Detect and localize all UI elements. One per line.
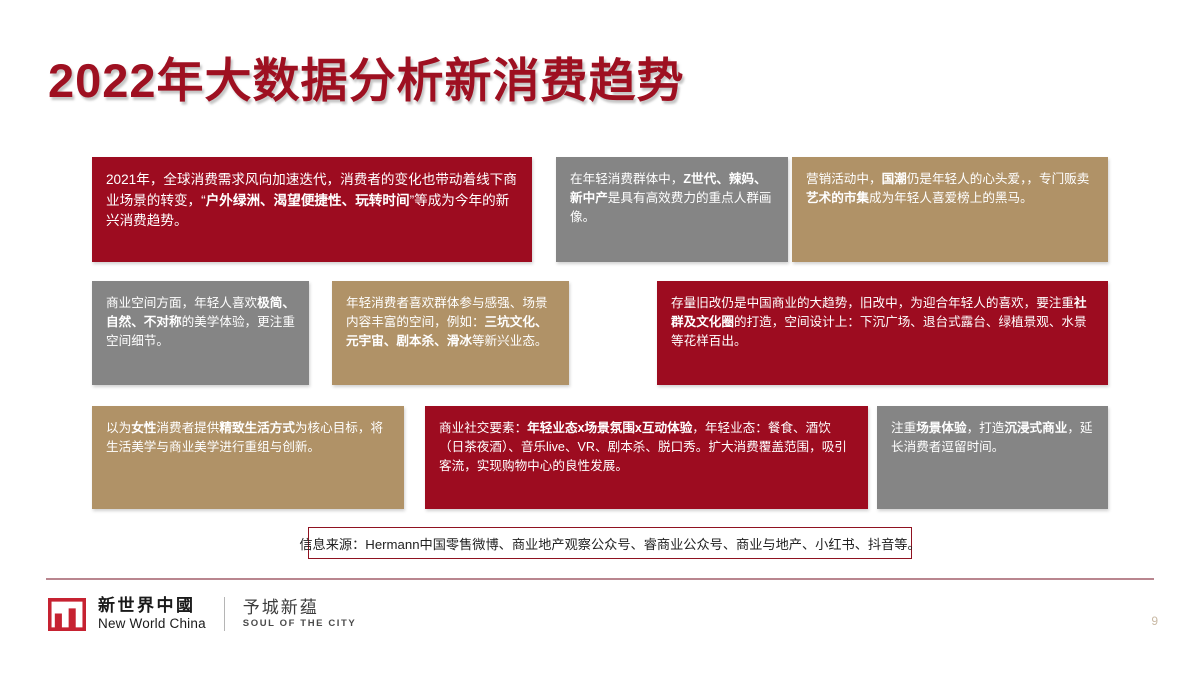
source-note: 信息来源：Hermann中国零售微博、商业地产观察公众号、睿商业公众号、商业与地… — [308, 527, 912, 559]
card-female-lifestyle[interactable]: 以为女性消费者提供精致生活方式为核心目标，将生活美学与商业美学进行重组与创新。 — [92, 406, 404, 509]
card-text: 存量旧改仍是中国商业的大趋势，旧改中，为迎合年轻人的喜欢，要注重社群及文化圈的打… — [671, 294, 1094, 351]
card-renovation[interactable]: 存量旧改仍是中国商业的大趋势，旧改中，为迎合年轻人的喜欢，要注重社群及文化圈的打… — [657, 281, 1108, 385]
footer-divider — [46, 578, 1154, 580]
sub-brand-cn: 予城新蕴 — [243, 598, 357, 618]
sub-brand-en: SOUL OF THE CITY — [243, 618, 357, 630]
page-number: 9 — [1151, 614, 1158, 628]
brand-separator — [224, 597, 225, 631]
card-text: 年轻消费者喜欢群体参与感强、场景内容丰富的空间，例如：三坑文化、元宇宙、剧本杀、… — [346, 294, 555, 351]
card-new-formats[interactable]: 年轻消费者喜欢群体参与感强、场景内容丰富的空间，例如：三坑文化、元宇宙、剧本杀、… — [332, 281, 569, 385]
sub-brand-block: 予城新蕴 SOUL OF THE CITY — [243, 598, 357, 630]
card-young-groups[interactable]: 在年轻消费群体中，Z世代、辣妈、新中产是具有高效费力的重点人群画像。 — [556, 157, 788, 262]
new-world-china-logo-icon — [48, 598, 86, 631]
card-text: 营销活动中，国潮仍是年轻人的心头爱，，专门贩卖艺术的市集成为年轻人喜爱榜上的黑马… — [806, 170, 1094, 208]
card-text: 商业空间方面，年轻人喜欢极简、自然、不对称的美学体验，更注重空间细节。 — [106, 294, 295, 351]
card-text: 注重场景体验，打造沉浸式商业，延长消费者逗留时间。 — [891, 419, 1094, 457]
card-text: 2021年，全球消费需求风向加速迭代，消费者的变化也带动着线下商业场景的转变，“… — [106, 170, 518, 232]
card-immersive[interactable]: 注重场景体验，打造沉浸式商业，延长消费者逗留时间。 — [877, 406, 1108, 509]
brand-name-en: New World China — [98, 616, 206, 632]
card-text: 在年轻消费群体中，Z世代、辣妈、新中产是具有高效费力的重点人群画像。 — [570, 170, 774, 227]
page-title: 2022年大数据分析新消费趋势 — [48, 42, 685, 111]
card-trend-2021[interactable]: 2021年，全球消费需求风向加速迭代，消费者的变化也带动着线下商业场景的转变，“… — [92, 157, 532, 262]
card-text: 商业社交要素：年轻业态x场景氛围x互动体验，年轻业态：餐食、酒饮（日茶夜酒）、音… — [439, 419, 854, 476]
brand-name-cn: 新世界中國 — [98, 596, 206, 616]
card-commercial-space[interactable]: 商业空间方面，年轻人喜欢极简、自然、不对称的美学体验，更注重空间细节。 — [92, 281, 309, 385]
source-text: 信息来源：Hermann中国零售微博、商业地产观察公众号、睿商业公众号、商业与地… — [299, 534, 920, 553]
card-text: 以为女性消费者提供精致生活方式为核心目标，将生活美学与商业美学进行重组与创新。 — [106, 419, 390, 457]
brand-block: 新世界中國 New World China — [98, 596, 206, 632]
card-marketing-guochao[interactable]: 营销活动中，国潮仍是年轻人的心头爱，，专门贩卖艺术的市集成为年轻人喜爱榜上的黑马… — [792, 157, 1108, 262]
footer-branding: 新世界中國 New World China 予城新蕴 SOUL OF THE C… — [48, 590, 356, 638]
card-social-elements[interactable]: 商业社交要素：年轻业态x场景氛围x互动体验，年轻业态：餐食、酒饮（日茶夜酒）、音… — [425, 406, 868, 509]
